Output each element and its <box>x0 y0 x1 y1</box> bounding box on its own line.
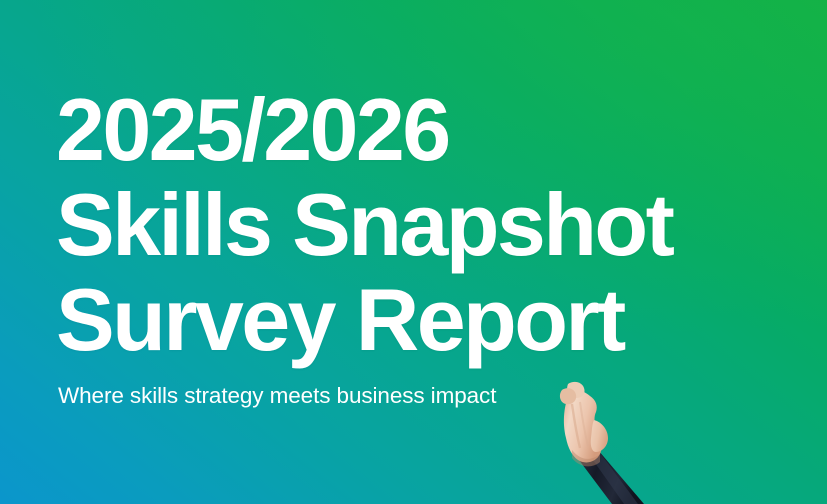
tendon-line-2 <box>580 402 588 446</box>
raised-hand-image <box>520 370 700 504</box>
raised-hand-icon <box>520 370 700 504</box>
sleeve-shape <box>576 450 644 504</box>
headline-line-3: Survey Report <box>56 272 672 367</box>
thumb-shape <box>591 420 608 452</box>
sleeve-highlight <box>588 450 638 504</box>
palm-shape <box>564 390 602 462</box>
wrist-shadow <box>572 450 600 466</box>
fingertip-2 <box>560 388 576 404</box>
cover-subtitle: Where skills strategy meets business imp… <box>58 381 496 411</box>
cover-headline: 2025/2026 Skills Snapshot Survey Report <box>56 82 672 367</box>
headline-line-2: Skills Snapshot <box>56 177 672 272</box>
fingertip-1 <box>567 382 584 398</box>
report-cover: 2025/2026 Skills Snapshot Survey Report … <box>0 0 827 504</box>
tendon-line-1 <box>572 404 580 448</box>
headline-line-1: 2025/2026 <box>56 82 672 177</box>
